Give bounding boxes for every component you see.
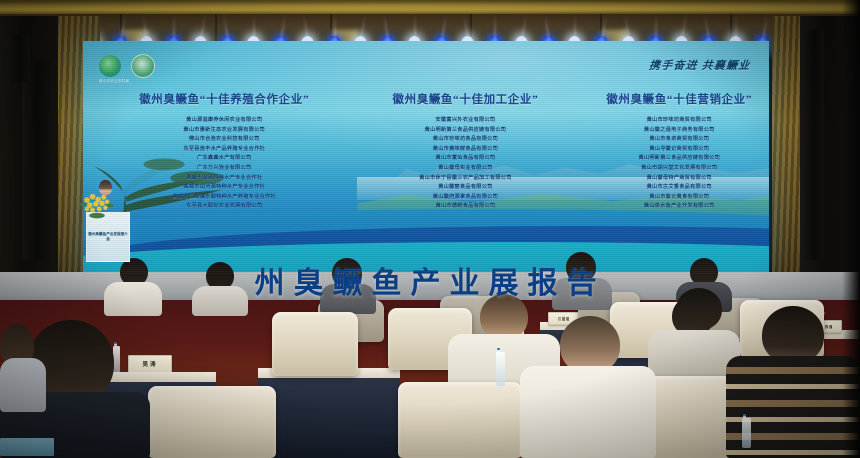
- light-beam: [334, 14, 336, 40]
- list-item: 黄山市惠新生态农业发展有限公司: [87, 126, 361, 136]
- list-item: 黄山市胡兴堂文化发展有限公司: [569, 164, 769, 174]
- list-item: 佛山市合渔农业科技有限公司: [87, 135, 361, 145]
- attendee-table-skirt: [258, 376, 400, 458]
- led-screen: 黄山市农业农村局 携手奋进 共襄鳜业 徽州臭鳜鱼“十佳养殖合作企业” 黄山源溢康…: [83, 41, 769, 275]
- water-bottle: [742, 418, 751, 448]
- light-beam: [574, 14, 576, 40]
- list-item: 黄山明新第三食品供应链有限公司: [369, 126, 561, 136]
- list-item: 黄山源溢康养休闲农业有限公司: [87, 116, 361, 126]
- papers: [0, 438, 54, 456]
- column-title: 徽州臭鳜鱼“十佳营销企业”: [569, 91, 769, 107]
- list-item: 黄山市珍味坊食品有限公司: [369, 135, 561, 145]
- light-beam: [494, 14, 496, 40]
- award-columns: 徽州臭鳜鱼“十佳养殖合作企业” 黄山源溢康养休闲农业有限公司 黄山市惠新生态农业…: [83, 91, 769, 212]
- award-column-marketing: 徽州臭鳜鱼“十佳营销企业” 黄山市珍味坊商贸有限公司 黄山徽之遥电子商务有限公司…: [565, 91, 769, 212]
- agriculture-logo-icon: [131, 54, 155, 78]
- list-item: 黄山寻徽记商贸有限公司: [569, 145, 769, 155]
- light-beam: [253, 14, 255, 40]
- list-item: 黄山市紫云黄食有限公司: [569, 193, 769, 203]
- podium-banner-text: 徽州臭鳜鱼产业发展推介会: [87, 232, 129, 242]
- logo-caption: 黄山市农业农村局: [99, 78, 173, 83]
- light-beam: [173, 14, 175, 40]
- truss-right: [804, 30, 824, 260]
- column-title: 徽州臭鳜鱼“十佳加工企业”: [369, 91, 561, 107]
- list-item: 黄山明新第三食品供应链有限公司: [569, 154, 769, 164]
- flower-arrangement: [80, 190, 114, 220]
- conference-hall-photo: 黄山市农业农村局 携手奋进 共襄鳜业 徽州臭鳜鱼“十佳养殖合作企业” 黄山源溢康…: [0, 0, 860, 458]
- right-edge-shadow: [842, 0, 860, 458]
- list-item: 黄山市食卓商贸有限公司: [569, 135, 769, 145]
- speaker-stack-left: [22, 60, 52, 260]
- placard-name: 江绍铭: [558, 316, 570, 321]
- list-item: 黄山市富仙食品有限公司: [369, 154, 561, 164]
- screen-tagline: 携手奋进 共襄鳜业: [649, 57, 752, 73]
- speaker-stack-left-upper: [8, 34, 30, 82]
- award-column-breeding: 徽州臭鳜鱼“十佳养殖合作企业” 黄山源溢康养休闲农业有限公司 黄山市惠新生态农业…: [83, 91, 365, 212]
- list-item: 高邮市金源特种水产专业合作社: [87, 174, 361, 184]
- award-column-processing: 徽州臭鳜鱼“十佳加工企业” 安徽富兴外农业有限公司 黄山明新第三食品供应链有限公…: [365, 91, 565, 212]
- placard-wu-tao: 吴涛: [128, 355, 172, 373]
- list-item: 黄山徽母实业有限公司: [369, 164, 561, 174]
- company-list: 安徽富兴外农业有限公司 黄山明新第三食品供应链有限公司 黄山市珍味坊食品有限公司…: [369, 116, 561, 212]
- water-bottle: [496, 352, 505, 386]
- list-item: 东至县大联好农业发展有限公司: [87, 202, 361, 212]
- list-item: 安徽富兴外农业有限公司: [369, 116, 561, 126]
- company-list: 黄山市珍味坊商贸有限公司 黄山徽之遥电子商务有限公司 黄山市食卓商贸有限公司 黄…: [569, 116, 769, 212]
- list-item: 黄山市古艾香食品有限公司: [569, 183, 769, 193]
- placard-name: 吴涛: [142, 360, 157, 368]
- list-item: 黄山徽丽食品有限公司: [369, 183, 561, 193]
- chair: [148, 386, 276, 458]
- list-item: 高邮市山河源特种水产专业合作社: [87, 183, 361, 193]
- list-item: 黄山市休宁县徽三农产品加工有限公司: [369, 174, 561, 184]
- list-item: 黄山泉水鱼产业开发有限公司: [569, 202, 769, 212]
- list-item: 东至县渔丰水产品养殖专业合作社: [87, 145, 361, 155]
- light-beam: [735, 14, 737, 40]
- list-item: 黄山市珍味坊商贸有限公司: [569, 116, 769, 126]
- list-item: 黄山徽之遥电子商务有限公司: [569, 126, 769, 136]
- chair: [398, 382, 522, 458]
- water-bottle: [113, 346, 120, 374]
- list-item: 广东万兴渔业有限公司: [87, 164, 361, 174]
- list-item: 黄山徽府源拿食品有限公司: [369, 193, 561, 203]
- screen-logos: 黄山市农业农村局: [99, 54, 155, 78]
- event-headline: 州臭鳜鱼产业展报告: [0, 258, 860, 302]
- list-item: 黄山市德鲜食品有限公司: [369, 202, 561, 212]
- list-item: 黄山市黄味鲜食品有限公司: [369, 145, 561, 155]
- light-beam: [414, 14, 416, 40]
- company-list: 黄山源溢康养休闲农业有限公司 黄山市惠新生态农业发展有限公司 佛山市合渔农业科技…: [87, 116, 361, 212]
- fishery-logo-icon: [99, 55, 121, 77]
- light-beam: [655, 14, 657, 40]
- list-item: 广东鑫鑫水产有限公司: [87, 154, 361, 164]
- list-item: 黄山徽母特产商贸有限公司: [569, 174, 769, 184]
- chair: [272, 312, 358, 376]
- list-item: 高邮市三垛镇永顺特种水产养殖专业合作社: [87, 193, 361, 203]
- column-title: 徽州臭鳜鱼“十佳养殖合作企业”: [87, 91, 361, 107]
